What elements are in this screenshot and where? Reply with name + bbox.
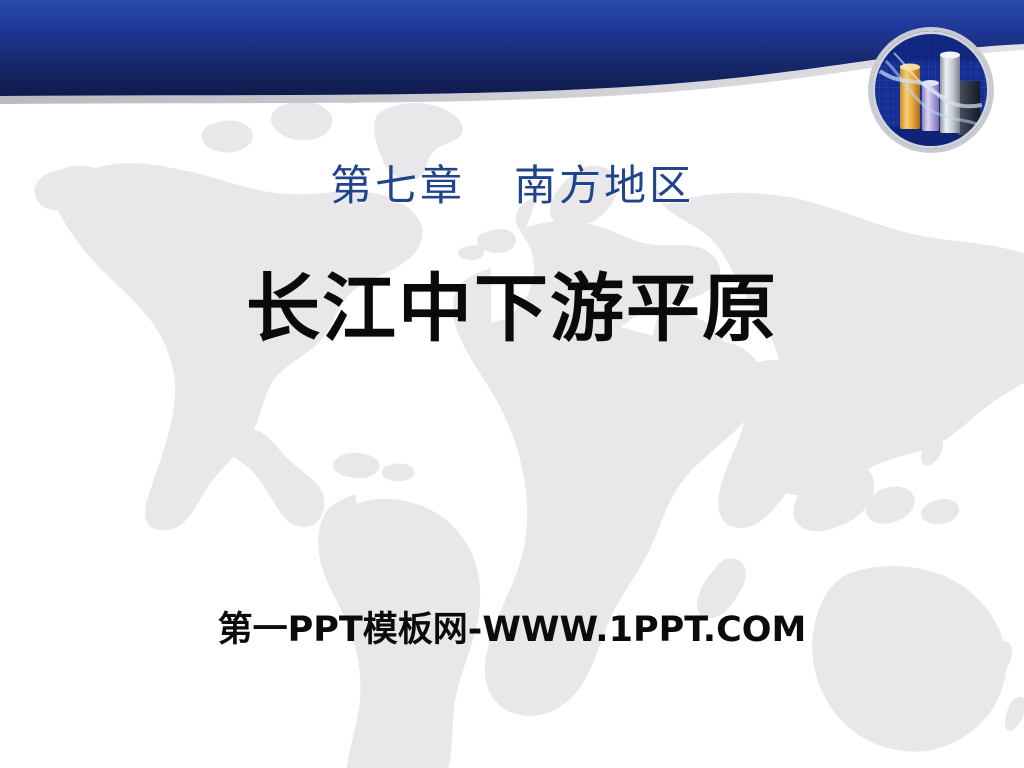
- circular-photo-badge: [872, 31, 990, 149]
- page-title: 长江中下游平原: [0, 266, 1024, 352]
- site-watermark: 第一PPT模板网-WWW.1PPT.COM: [0, 608, 1024, 652]
- banner-blue-shape: [0, 0, 1024, 96]
- presentation-slide: 第七章 南方地区 长江中下游平原 第一PPT模板网-WWW.1PPT.COM: [0, 0, 1024, 768]
- top-curved-banner: [0, 0, 1024, 150]
- banner-edge-highlight: [0, 6, 1024, 104]
- chapter-subtitle: 第七章 南方地区: [0, 160, 1024, 212]
